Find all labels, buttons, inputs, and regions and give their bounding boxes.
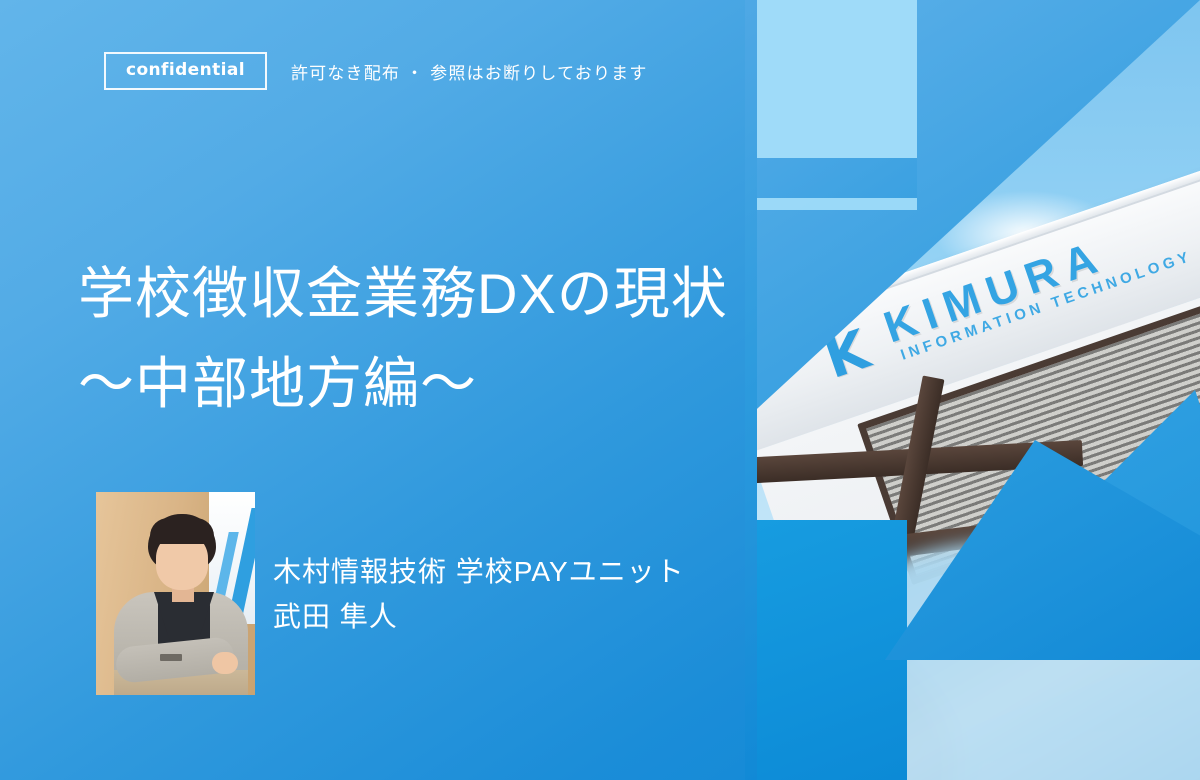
page-title: 学校徴収金業務DXの現状 〜中部地方編〜 <box>78 258 728 419</box>
presenter-block: 木村情報技術 学校PAYユニット 武田 隼人 <box>96 492 685 695</box>
presenter-name: 武田 隼人 <box>273 599 685 634</box>
title-line-1: 学校徴収金業務DXの現状 <box>78 258 728 330</box>
confidential-note: 許可なき配布 ・ 参照はお断りしております <box>291 59 648 84</box>
photo-mask-lower-left <box>757 520 907 780</box>
title-slide: K KIMURA INFORMATION TECHNOLOGY confiden… <box>0 0 1200 780</box>
portrait-fringe <box>150 518 214 544</box>
presenter-text: 木村情報技術 学校PAYユニット 武田 隼人 <box>273 554 685 634</box>
decorative-square-top <box>757 0 917 158</box>
portrait-jacket-logo <box>160 654 182 661</box>
presenter-organization: 木村情報技術 学校PAYユニット <box>273 554 685 589</box>
title-line-2: 〜中部地方編〜 <box>78 348 728 420</box>
portrait-hand <box>212 652 238 674</box>
confidential-badge: confidential <box>104 52 267 90</box>
photo-mask-left-strip <box>745 0 757 780</box>
presenter-avatar <box>96 492 255 695</box>
slide-header: confidential 許可なき配布 ・ 参照はお断りしております <box>104 52 648 90</box>
photo-mask-gap-band <box>757 158 917 198</box>
decorative-square-second <box>757 198 917 210</box>
